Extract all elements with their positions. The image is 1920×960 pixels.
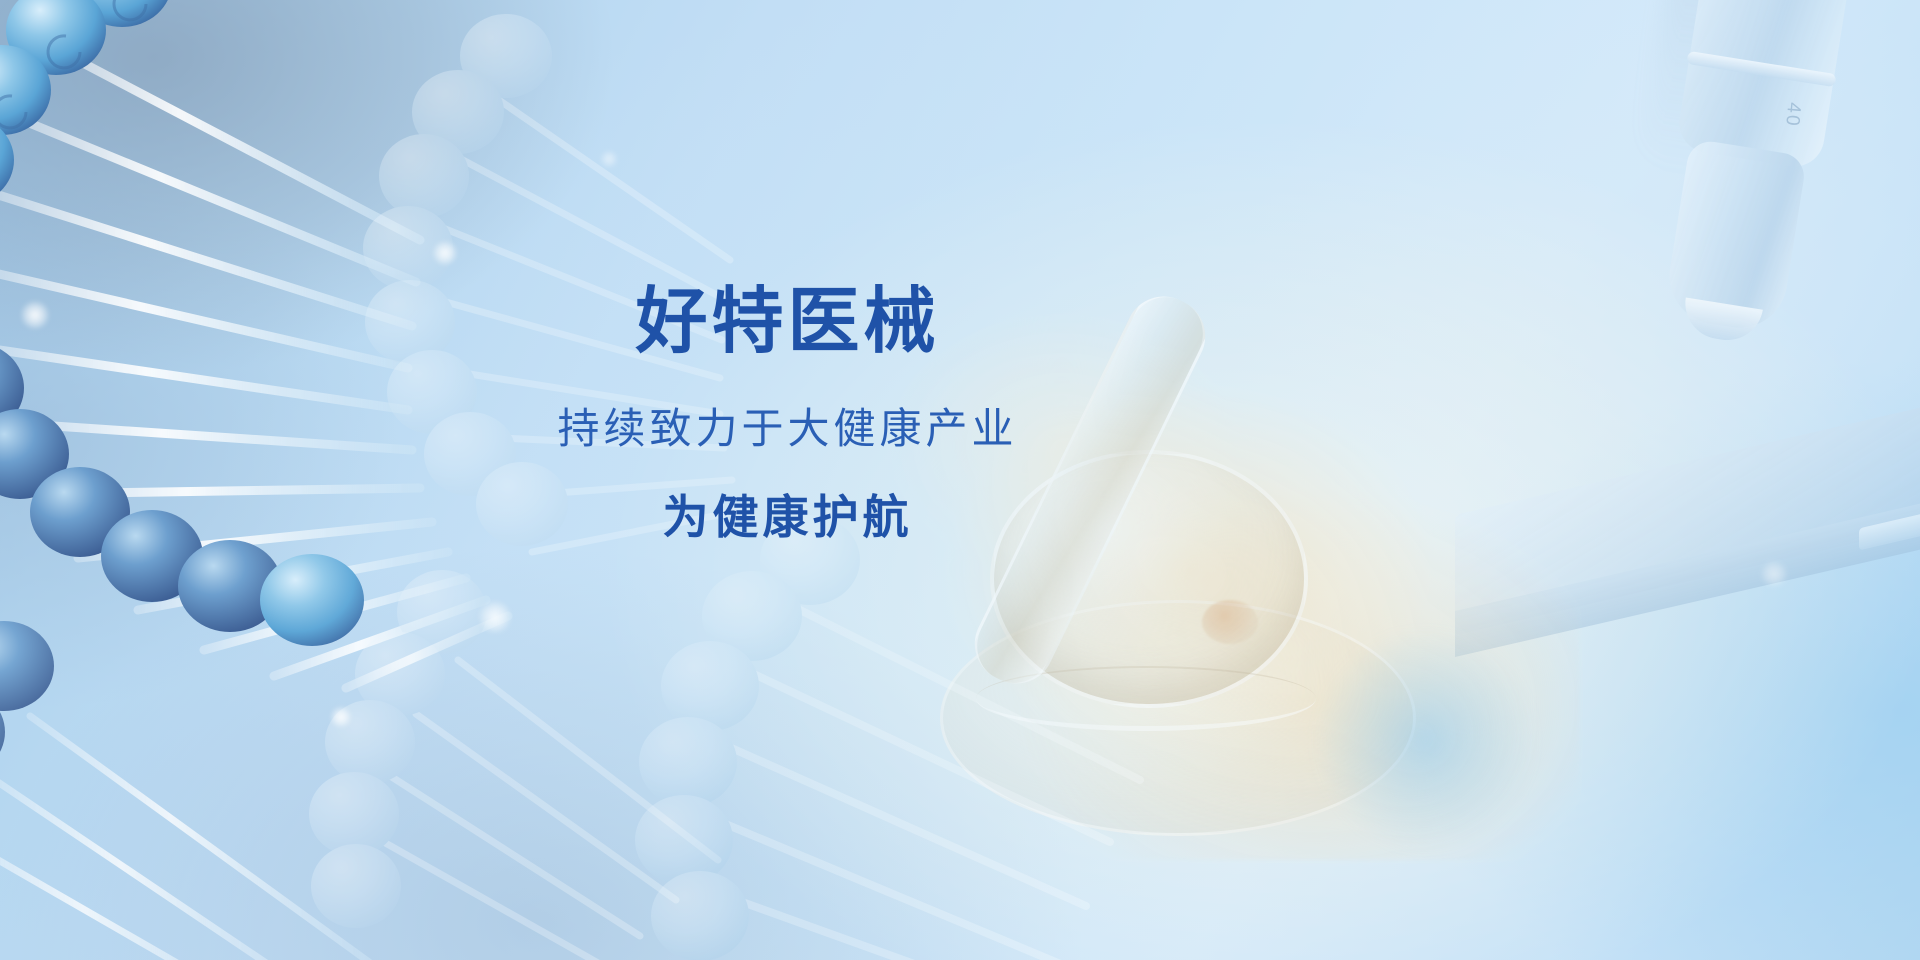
microscope-magnification-label: 40 <box>1780 101 1804 128</box>
bokeh-dot <box>600 150 618 168</box>
brand-subtitle: 持续致力于大健康产业 <box>0 408 1575 450</box>
glassware-blue-highlight <box>1310 630 1540 850</box>
brand-title: 好特医械 <box>0 286 1575 358</box>
brand-tagline: 为健康护航 <box>0 494 1575 540</box>
hero-copy: 好特医械 持续致力于大健康产业 为健康护航 <box>0 286 1575 540</box>
bokeh-dot <box>1760 560 1788 588</box>
bokeh-dot <box>432 240 458 266</box>
bokeh-dot <box>478 600 512 634</box>
hero-banner: 40 <box>0 0 1920 960</box>
dna-double-helix-lower <box>640 520 1240 960</box>
bokeh-dot <box>330 706 352 728</box>
